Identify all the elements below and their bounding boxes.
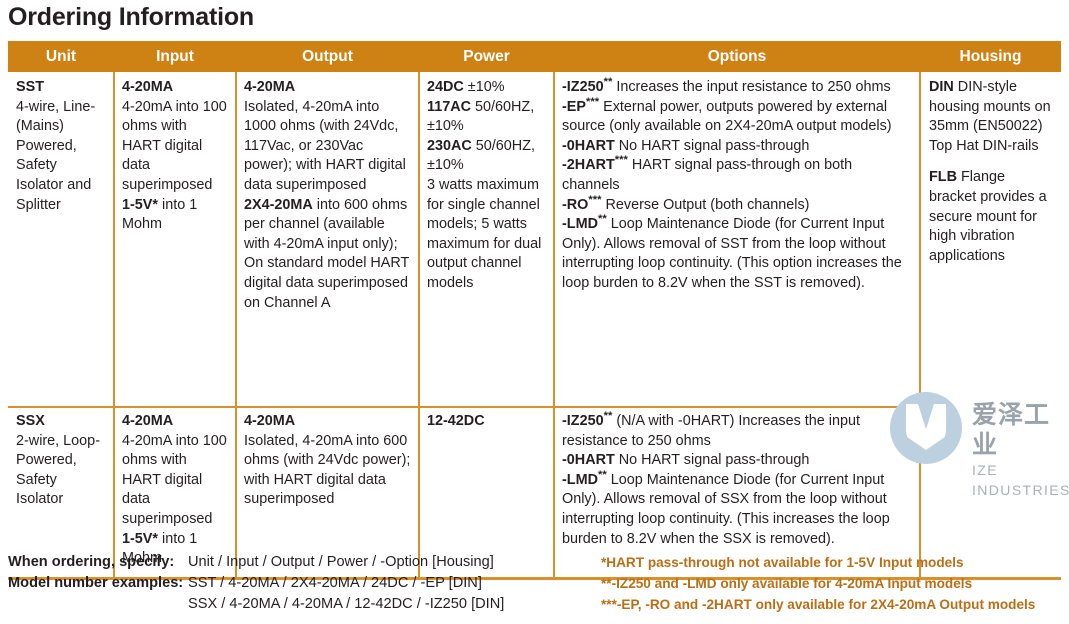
power-item: 12-42DC — [427, 412, 546, 432]
unit-description: 4-wire, Line-(Mains) Powered, Safety Iso… — [16, 98, 106, 216]
output-code-secondary: 2X4-20MA — [244, 197, 313, 213]
input-description-primary: 4-20mA into 100 ohms with HART digital d… — [122, 98, 228, 196]
cell-options-sst: -IZ250** Increases the input resistance … — [554, 72, 920, 406]
table-row: SST 4-wire, Line-(Mains) Powered, Safety… — [8, 72, 1061, 406]
option-item: -RO*** Reverse Output (both channels) — [562, 196, 912, 216]
option-desc: No HART signal pass-through — [619, 138, 810, 154]
option-code: -0HART — [562, 452, 615, 468]
option-marks: *** — [615, 155, 628, 167]
power-code: 24DC — [427, 79, 464, 95]
housing-code: FLB — [929, 169, 957, 185]
footer-specify-value: Unit / Input / Output / Power / -Option … — [188, 552, 494, 573]
housing-item: DIN DIN-style housing mounts on 35mm (EN… — [929, 78, 1053, 156]
footer-footnotes: *HART pass-through not available for 1-5… — [593, 552, 1061, 615]
option-desc: Loop Maintenance Diode (for Current Inpu… — [562, 216, 902, 291]
input-description-primary: 4-20mA into 100 ohms with HART digital d… — [122, 432, 228, 530]
footer-specify-label: When ordering, specify: — [8, 552, 188, 573]
ordering-information-table: Unit Input Output Power Options Housing … — [8, 41, 1061, 577]
cell-unit-sst: SST 4-wire, Line-(Mains) Powered, Safety… — [8, 72, 114, 406]
housing-code: DIN — [929, 79, 954, 95]
footer: When ordering, specify: Unit / Input / O… — [8, 552, 1061, 615]
option-code: -2HART — [562, 157, 615, 173]
option-item: -LMD** Loop Maintenance Diode (for Curre… — [562, 215, 912, 293]
column-header-options: Options — [554, 41, 920, 72]
unit-code: SSX — [16, 412, 106, 432]
option-marks: *** — [586, 96, 599, 108]
option-code: -LMD — [562, 472, 598, 488]
option-code: -LMD — [562, 216, 598, 232]
option-marks: ** — [604, 410, 613, 422]
input-code-secondary: 1-5V* — [122, 531, 158, 547]
power-code: 117AC — [427, 99, 471, 115]
footer-ordering-info: When ordering, specify: Unit / Input / O… — [8, 552, 593, 615]
output-description-primary: Isolated, 4-20mA into 600 ohms (with 24V… — [244, 432, 411, 510]
footnote-single-asterisk: *HART pass-through not available for 1-5… — [601, 552, 1061, 573]
column-header-unit: Unit — [8, 41, 114, 72]
power-note: 3 watts maximum for single channel model… — [427, 176, 546, 294]
input-code-secondary: 1-5V* — [122, 197, 158, 213]
power-item: 24DC ±10% — [427, 78, 546, 98]
cell-output-sst: 4-20MA Isolated, 4-20mA into 1000 ohms (… — [236, 72, 419, 406]
footnote-triple-asterisk: ***-EP, -RO and -2HART only available fo… — [601, 594, 1061, 615]
option-code: -EP — [562, 99, 586, 115]
option-marks: ** — [604, 76, 613, 88]
unit-description: 2-wire, Loop-Powered, Safety Isolator — [16, 432, 106, 510]
power-code: 12-42DC — [427, 413, 485, 429]
option-code: -0HART — [562, 138, 615, 154]
option-desc: Increases the input resistance to 250 oh… — [616, 79, 890, 95]
power-item: 117AC 50/60HZ, ±10% — [427, 98, 546, 137]
column-header-power: Power — [419, 41, 554, 72]
cell-input-sst: 4-20MA 4-20mA into 100 ohms with HART di… — [114, 72, 236, 406]
option-code: -IZ250 — [562, 79, 604, 95]
option-item: -0HART No HART signal pass-through — [562, 451, 912, 471]
ordering-information-page: Ordering Information Unit Input Output P… — [0, 0, 1069, 624]
housing-item: FLB Flange bracket provides a secure mou… — [929, 168, 1053, 266]
page-title: Ordering Information — [8, 0, 254, 34]
option-marks: ** — [598, 469, 607, 481]
table-header-row: Unit Input Output Power Options Housing — [8, 41, 1061, 72]
footer-examples-label: Model number examples: — [8, 573, 188, 594]
option-code: -IZ250 — [562, 413, 604, 429]
column-header-output: Output — [236, 41, 419, 72]
option-item: -EP*** External power, outputs powered b… — [562, 98, 912, 137]
power-code: 230AC — [427, 138, 472, 154]
option-desc: External power, outputs powered by exter… — [562, 99, 892, 135]
option-item: -2HART*** HART signal pass-through on bo… — [562, 156, 912, 195]
output-description-primary: Isolated, 4-20mA into 1000 ohms (with 24… — [244, 98, 411, 196]
output-description-secondary: into 600 ohms per channel (available wit… — [244, 197, 409, 311]
input-code-primary: 4-20MA — [122, 78, 228, 98]
input-code-primary: 4-20MA — [122, 412, 228, 432]
option-desc: No HART signal pass-through — [619, 452, 810, 468]
option-desc: Loop Maintenance Diode (for Current Inpu… — [562, 472, 890, 547]
power-item: 230AC 50/60HZ, ±10% — [427, 137, 546, 176]
footer-specify-row: When ordering, specify: Unit / Input / O… — [8, 552, 593, 573]
output-code-primary: 4-20MA — [244, 412, 411, 432]
footer-example-2: SSX / 4-20MA / 4-20MA / 12-42DC / -IZ250… — [8, 594, 593, 615]
footer-examples-row: Model number examples: SST / 4-20MA / 2X… — [8, 573, 593, 594]
option-item: -LMD** Loop Maintenance Diode (for Curre… — [562, 471, 912, 549]
option-desc: Reverse Output (both channels) — [606, 197, 810, 213]
column-header-input: Input — [114, 41, 236, 72]
table-body: SST 4-wire, Line-(Mains) Powered, Safety… — [8, 72, 1061, 577]
unit-code: SST — [16, 78, 106, 98]
cell-housing: DIN DIN-style housing mounts on 35mm (EN… — [921, 72, 1061, 274]
footer-example-1: SST / 4-20MA / 2X4-20MA / 24DC / -EP [DI… — [188, 573, 482, 594]
option-code: -RO — [562, 197, 588, 213]
column-header-housing: Housing — [920, 41, 1061, 72]
option-item: -IZ250** (N/A with -0HART) Increases the… — [562, 412, 912, 451]
footnote-double-asterisk: **-IZ250 and -LMD only available for 4-2… — [601, 573, 1061, 594]
option-item: -IZ250** Increases the input resistance … — [562, 78, 912, 98]
option-marks: *** — [588, 194, 601, 206]
power-desc: ±10% — [468, 79, 505, 95]
cell-power-sst: 24DC ±10% 117AC 50/60HZ, ±10% 230AC 50/6… — [419, 72, 554, 406]
option-item: -0HART No HART signal pass-through — [562, 137, 912, 157]
output-code-primary: 4-20MA — [244, 78, 411, 98]
option-marks: ** — [598, 213, 607, 225]
